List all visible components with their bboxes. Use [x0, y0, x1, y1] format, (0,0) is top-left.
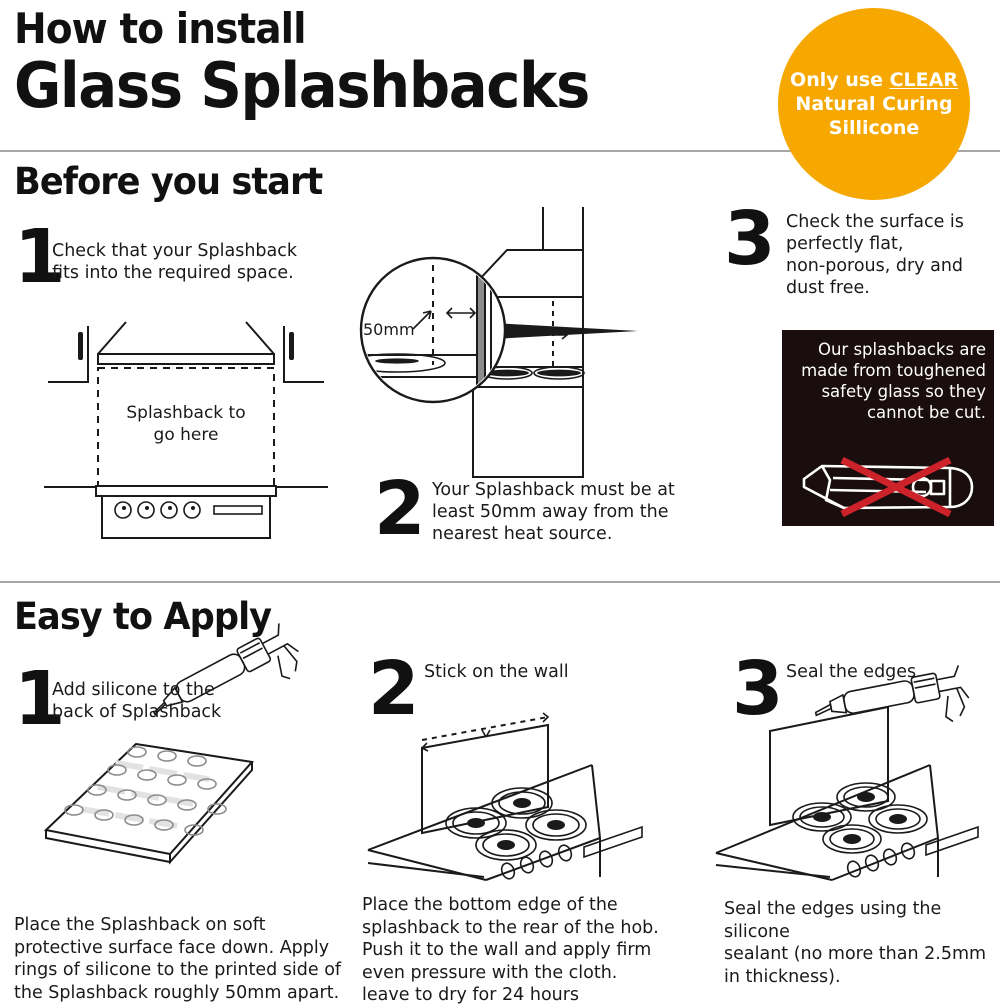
step-text-b1: Check that your Splashback fits into the…	[52, 240, 322, 284]
step-caption-a3: Seal the edges using the silicone sealan…	[724, 898, 996, 988]
step-text-b3: Check the surface is perfectly flat, non…	[786, 211, 996, 299]
diagram-seal-edges	[712, 685, 1000, 880]
title-line-2: Glass Splashbacks	[14, 52, 589, 120]
badge-line-1-emphasis: CLEAR	[890, 69, 958, 91]
warning-text: Our splashbacks are made from toughened …	[790, 339, 986, 423]
section-heading-before-you-start: Before you start	[14, 160, 322, 203]
step-number-b2: 2	[374, 478, 423, 540]
badge-line-2: Natural Curing	[795, 93, 952, 115]
step-title-a3: Seal the edges	[786, 661, 1000, 683]
step-caption-a2: Place the bottom edge of the splashback …	[362, 894, 692, 1007]
no-cut-knife-icon	[800, 456, 978, 518]
step-text-b2: Your Splashback must be at least 50mm aw…	[432, 479, 692, 545]
divider-middle	[0, 581, 1000, 583]
diagram-label-splashback-l1: Splashback to	[126, 403, 245, 423]
diagram-50mm-clearance: 50mm	[355, 205, 695, 485]
infographic-page: How to install Glass Splashbacks Only us…	[0, 0, 1000, 1000]
badge-line-1-pre: Only use	[790, 69, 890, 91]
badge-line-3: Sillicone	[829, 117, 919, 139]
diagram-label-splashback-l2: go here	[154, 425, 219, 445]
diagram-apply-silicone	[20, 700, 320, 900]
diagram-stick-on-wall	[360, 685, 680, 880]
diagram-splashback-space: Splashback to go here	[36, 318, 336, 540]
badge-text: Only use CLEAR Natural Curing Sillicone	[790, 68, 958, 140]
step-title-a2: Stick on the wall	[424, 661, 674, 683]
title-line-1: How to install	[14, 6, 589, 52]
step-caption-a1: Place the Splashback on soft protective …	[14, 914, 364, 1004]
clear-silicone-badge: Only use CLEAR Natural Curing Sillicone	[778, 8, 970, 200]
section-heading-easy-to-apply: Easy to Apply	[14, 595, 271, 638]
warning-panel-cannot-be-cut: Our splashbacks are made from toughened …	[782, 330, 994, 526]
page-title: How to install Glass Splashbacks	[14, 6, 632, 120]
step-number-b3: 3	[724, 208, 773, 270]
diagram-label-50mm: 50mm	[363, 320, 415, 339]
